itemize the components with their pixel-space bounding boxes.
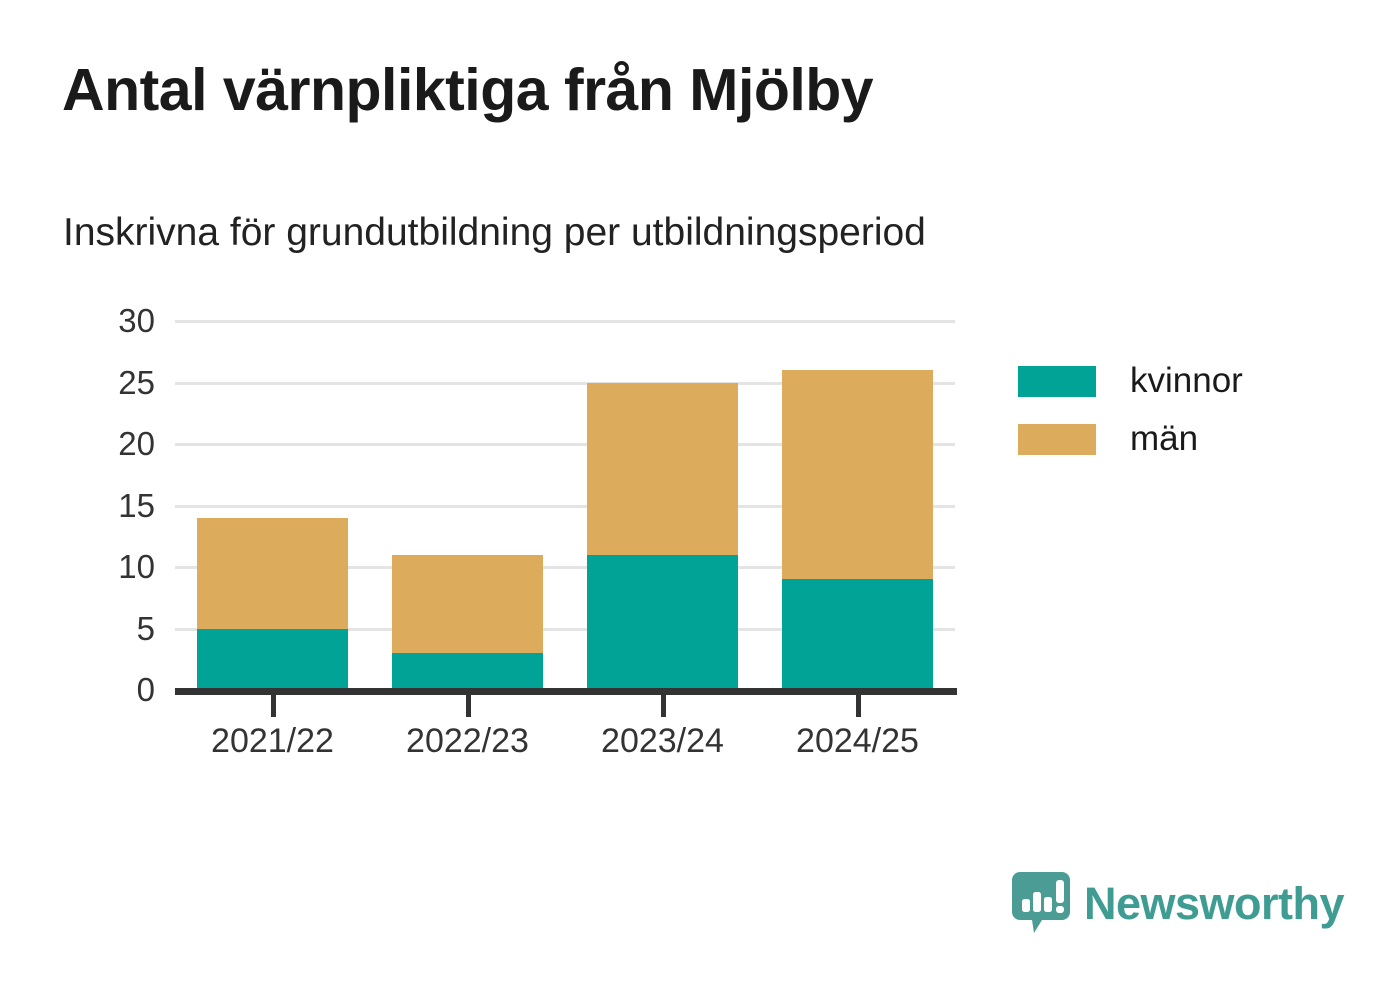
legend-item[interactable]: män <box>1018 410 1243 468</box>
chart-subtitle: Inskrivna för grundutbildning per utbild… <box>63 212 926 255</box>
bar-segment-män[interactable] <box>197 518 348 629</box>
bar-stack[interactable] <box>197 321 348 690</box>
legend-item[interactable]: kvinnor <box>1018 352 1243 410</box>
y-axis-tick-label: 25 <box>85 366 155 399</box>
y-axis-tick-label: 0 <box>85 673 155 706</box>
page-title: Antal värnpliktiga från Mjölby <box>62 58 873 123</box>
legend-label: män <box>1130 419 1198 459</box>
y-axis-tick-label: 30 <box>85 304 155 337</box>
bar-segment-män[interactable] <box>392 555 543 653</box>
x-axis-tick-label: 2024/25 <box>760 722 955 761</box>
bar-segment-kvinnor[interactable] <box>392 653 543 690</box>
bar-stack[interactable] <box>392 321 543 690</box>
x-axis-tick-label: 2023/24 <box>565 722 760 761</box>
bar-segment-kvinnor[interactable] <box>587 555 738 690</box>
x-axis-tick-mark <box>466 695 471 717</box>
newsworthy-wordmark: Newsworthy <box>1084 881 1344 926</box>
x-axis-tick-mark <box>271 695 276 717</box>
legend: kvinnormän <box>1018 352 1243 468</box>
newsworthy-logo[interactable]: Newsworthy <box>1012 872 1344 934</box>
y-axis-tick-label: 20 <box>85 427 155 460</box>
y-axis: 051015202530 <box>85 0 155 999</box>
x-axis-tick-mark <box>661 695 666 717</box>
legend-swatch <box>1018 366 1096 397</box>
legend-swatch <box>1018 424 1096 455</box>
y-axis-tick-label: 5 <box>85 612 155 645</box>
bar-segment-män[interactable] <box>587 383 738 555</box>
x-axis-tick-label: 2021/22 <box>175 722 370 761</box>
x-axis-tick-mark <box>856 695 861 717</box>
bar-segment-kvinnor[interactable] <box>782 579 933 690</box>
bar-stack[interactable] <box>782 321 933 690</box>
bar-segment-män[interactable] <box>782 370 933 579</box>
speech-bubble-bar-chart-icon <box>1012 872 1070 934</box>
chart-card: Antal värnpliktiga från Mjölby Inskrivna… <box>0 0 1382 999</box>
legend-label: kvinnor <box>1130 361 1243 401</box>
y-axis-tick-label: 10 <box>85 550 155 583</box>
bar-stack[interactable] <box>587 321 738 690</box>
bar-segment-kvinnor[interactable] <box>197 629 348 691</box>
x-axis-line <box>175 688 957 695</box>
x-axis-tick-label: 2022/23 <box>370 722 565 761</box>
y-axis-tick-label: 15 <box>85 489 155 522</box>
